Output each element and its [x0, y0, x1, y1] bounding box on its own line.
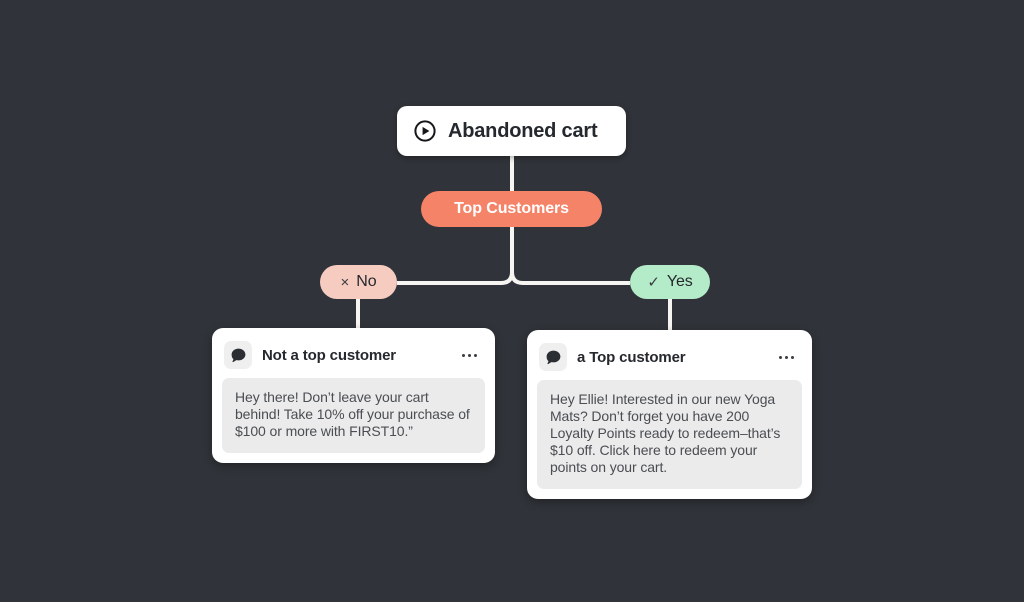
- branch-badge-yes[interactable]: ✓ Yes: [630, 265, 710, 299]
- card-header: Not a top customer: [222, 338, 485, 372]
- card-title: a Top customer: [577, 349, 775, 366]
- more-options-icon[interactable]: [458, 348, 481, 363]
- card-title: Not a top customer: [262, 347, 458, 364]
- flow-canvas: Abandoned cart Top Customers × No ✓ Yes …: [0, 0, 1024, 602]
- condition-node-top-customers[interactable]: Top Customers: [421, 191, 602, 227]
- play-circle-icon: [413, 119, 437, 143]
- card-message-text: Hey Ellie! Interested in our new Yoga Ma…: [550, 391, 789, 476]
- card-message-panel: Hey there! Don’t leave your cart behind!…: [222, 378, 485, 453]
- check-icon: ✓: [647, 275, 660, 290]
- chat-bubble-icon: [224, 341, 252, 369]
- branch-badge-no[interactable]: × No: [320, 265, 397, 299]
- branch-label-yes: Yes: [667, 273, 693, 291]
- card-header: a Top customer: [537, 340, 802, 374]
- condition-label: Top Customers: [454, 200, 569, 218]
- connector-lines: [0, 0, 1024, 602]
- chat-bubble-icon: [539, 343, 567, 371]
- message-card-not-top-customer[interactable]: Not a top customer Hey there! Don’t leav…: [212, 328, 495, 463]
- more-options-icon[interactable]: [775, 350, 798, 365]
- trigger-node-abandoned-cart[interactable]: Abandoned cart: [397, 106, 626, 156]
- trigger-label: Abandoned cart: [448, 120, 597, 143]
- cross-icon: ×: [340, 275, 349, 290]
- branch-label-no: No: [356, 273, 376, 291]
- card-message-text: Hey there! Don’t leave your cart behind!…: [235, 389, 472, 440]
- card-message-panel: Hey Ellie! Interested in our new Yoga Ma…: [537, 380, 802, 489]
- message-card-top-customer[interactable]: a Top customer Hey Ellie! Interested in …: [527, 330, 812, 499]
